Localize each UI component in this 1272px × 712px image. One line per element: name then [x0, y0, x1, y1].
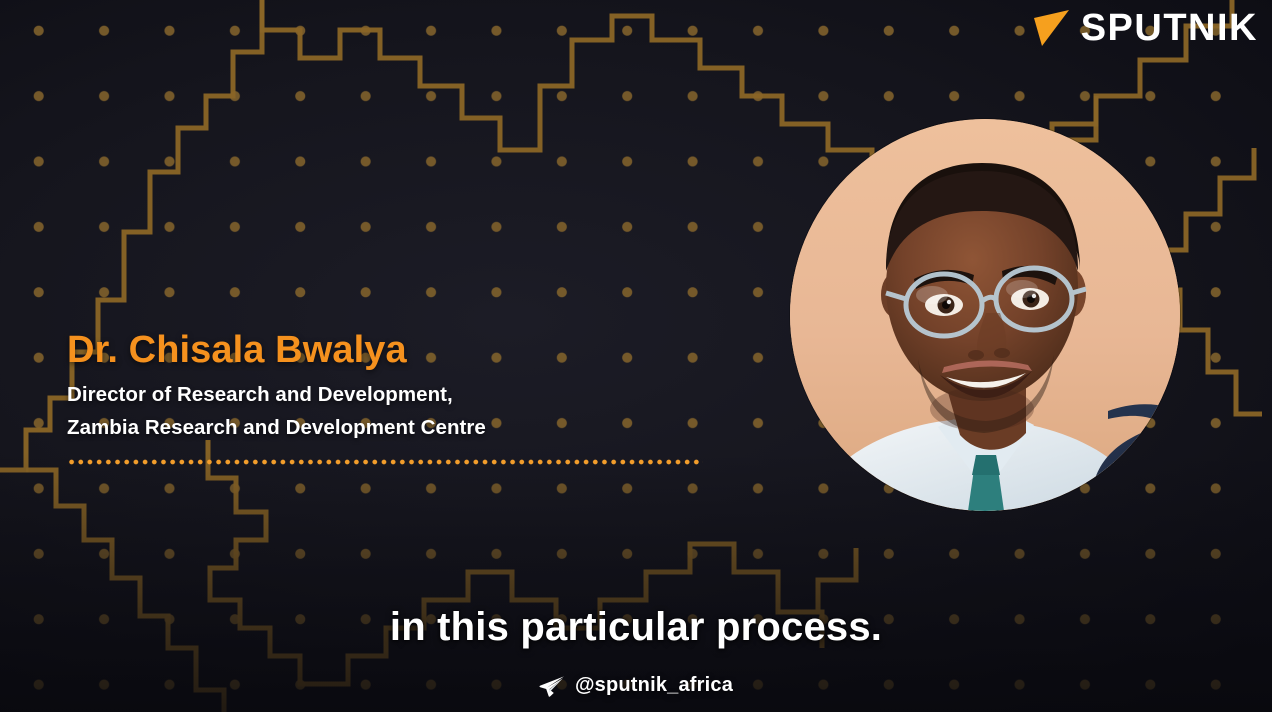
telegram-icon: [539, 675, 565, 697]
sputnik-wordmark: SPUTNIK: [1081, 9, 1258, 47]
speaker-role-line-1: Director of Research and Development,: [67, 379, 727, 411]
caption-block: in this particular process.: [0, 604, 1272, 650]
caption-text: in this particular process.: [390, 604, 882, 650]
speaker-portrait: [790, 119, 1180, 511]
sputnik-triangle-icon: [1030, 6, 1072, 50]
dotted-divider: [67, 459, 703, 465]
sputnik-logo[interactable]: SPUTNIK: [1030, 6, 1258, 50]
handle-text: @sputnik_africa: [575, 674, 733, 697]
quote-card: SPUTNIK: [0, 0, 1272, 712]
speaker-info: Dr. Chisala Bwalya Director of Research …: [67, 330, 727, 465]
speaker-role-line-2: Zambia Research and Development Centre: [67, 412, 727, 444]
portrait-photo-illustration: [790, 119, 1180, 511]
social-handle[interactable]: @sputnik_africa: [0, 674, 1272, 697]
speaker-name: Dr. Chisala Bwalya: [67, 330, 727, 370]
